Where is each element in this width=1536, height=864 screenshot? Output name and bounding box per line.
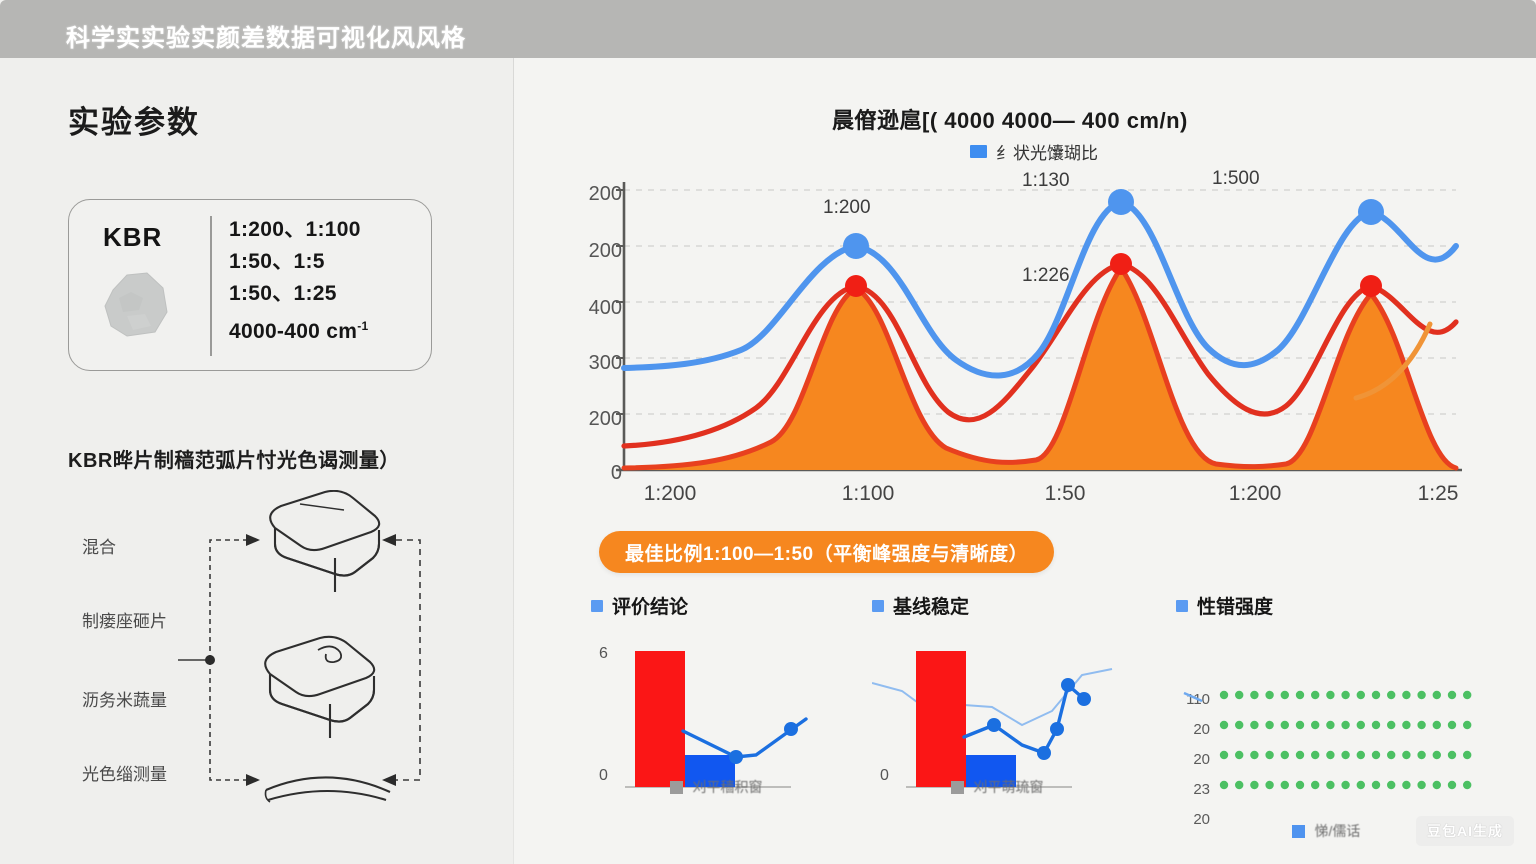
mini-panel-1-legend: 刈平穑积窗 bbox=[591, 777, 841, 797]
mini2-trend-line bbox=[964, 685, 1084, 753]
legend-swatch-blue-icon bbox=[970, 145, 987, 158]
x-tick-3: 1:200 bbox=[1195, 482, 1315, 506]
param-superscript: -1 bbox=[357, 319, 368, 333]
chart-title: 晨傄逊扈[( 4000 4000— 400 cm/n) bbox=[832, 103, 1188, 135]
x-tick-2: 1:50 bbox=[1005, 482, 1125, 506]
mini-panel-1-title: 评价结论 bbox=[612, 592, 688, 619]
mini-panel-2-body: 0 刈平萌琉窗 bbox=[872, 641, 1122, 801]
flow-step-3: 沥务米蔬量 bbox=[82, 686, 167, 711]
param-line-1: 1:200、1:100 bbox=[229, 214, 369, 246]
orange-area-series bbox=[624, 268, 1456, 470]
bullet-square-icon bbox=[872, 600, 884, 612]
mini1-y-top: 6 bbox=[599, 645, 608, 663]
mini-panel-1-header: 评价结论 bbox=[591, 592, 841, 619]
bullet-square-icon bbox=[591, 600, 603, 612]
param-line-4: 4000-400 cm-1 bbox=[229, 310, 369, 348]
mini2-bar-1 bbox=[916, 651, 966, 787]
mini-panel-1-body: 6 0 刈平穑积窗 bbox=[591, 641, 841, 801]
flow-diagram: 混合 制瘘座砸片 沥务米蔬量 光色缁测量 bbox=[60, 490, 480, 820]
red-marker-1 bbox=[845, 275, 867, 297]
flow-step-2: 制瘘座砸片 bbox=[82, 607, 167, 632]
blue-marker-1 bbox=[843, 233, 869, 259]
param-line-3: 1:50、1:25 bbox=[229, 278, 369, 310]
param-range: 4000-400 cm bbox=[229, 320, 357, 343]
mini3-legend-label: 悌/儒话 bbox=[1315, 821, 1361, 841]
legend-label: 纟状光馕瑚比 bbox=[996, 139, 1098, 164]
flow-step-4: 光色缁测量 bbox=[82, 760, 167, 785]
kbr-label: KBR bbox=[103, 222, 162, 253]
main-chart bbox=[556, 168, 1476, 508]
mini3-legend-swatch-icon bbox=[1292, 825, 1305, 838]
slide-root: 科学实实验实颜差数据可视化风风格 实验参数 KBR 1:200、1:100 1:… bbox=[0, 0, 1536, 864]
mini-chart-3 bbox=[1176, 597, 1476, 797]
mini-panel-evaluation: 评价结论 6 0 刈平穑积窗 bbox=[591, 592, 841, 837]
mini-panel-baseline: 基线稳定 0 刈平萌琉窗 bbox=[872, 592, 1122, 837]
mini1-bar-1 bbox=[635, 651, 685, 787]
column-divider bbox=[513, 58, 514, 864]
param-line-2: 1:50、1:5 bbox=[229, 246, 369, 278]
mini-panel-intensity: 性错强度 110 20 20 23 20 悌/儒话 bbox=[1176, 592, 1476, 837]
parameter-card: KBR 1:200、1:100 1:50、1:5 1:50、1:25 4000-… bbox=[68, 199, 432, 371]
x-tick-1: 1:100 bbox=[808, 482, 928, 506]
x-tick-4: 1:25 bbox=[1378, 482, 1498, 506]
x-tick-0: 1:200 bbox=[610, 482, 730, 506]
watermark: 豆包AI生成 bbox=[1416, 816, 1514, 846]
mini1-legend-swatch-icon bbox=[670, 781, 683, 794]
red-marker-3 bbox=[1360, 275, 1382, 297]
mini1-legend-label: 刈平穑积窗 bbox=[693, 777, 763, 797]
mini-panel-2-header: 基线稳定 bbox=[872, 592, 1122, 619]
left-panel-title: 实验参数 bbox=[68, 97, 200, 142]
kbr-powder-icon bbox=[97, 268, 171, 340]
blue-marker-3 bbox=[1358, 199, 1384, 225]
mini2-legend-label: 刈平萌琉窗 bbox=[974, 777, 1044, 797]
main-chart-svg bbox=[556, 168, 1476, 488]
mini2-legend-swatch-icon bbox=[951, 781, 964, 794]
page-title: 科学实实验实颜差数据可视化风风格 bbox=[66, 18, 466, 53]
mini-panel-2-legend: 刈平萌琉窗 bbox=[872, 777, 1122, 797]
blue-line-series bbox=[624, 202, 1456, 376]
mini2-bg-line bbox=[872, 669, 1112, 725]
parameter-list: 1:200、1:100 1:50、1:5 1:50、1:25 4000-400 … bbox=[229, 214, 369, 348]
best-ratio-badge[interactable]: 最佳比例1:100—1:50（平衡峰强度与清晰度） bbox=[599, 531, 1054, 573]
chart-legend: 纟状光馕瑚比 bbox=[970, 139, 1098, 164]
red-marker-2 bbox=[1110, 253, 1132, 275]
mini-panel-2-title: 基线稳定 bbox=[893, 592, 969, 619]
flow-step-1: 混合 bbox=[82, 533, 116, 558]
flow-diagram-title: KBR晔片制穑范弧片忖光色谒测量） bbox=[68, 444, 400, 473]
mini-panel-3-body: 110 20 20 23 20 悌/儒话 bbox=[1176, 641, 1476, 801]
card-divider bbox=[210, 216, 212, 356]
blue-marker-2 bbox=[1108, 189, 1134, 215]
